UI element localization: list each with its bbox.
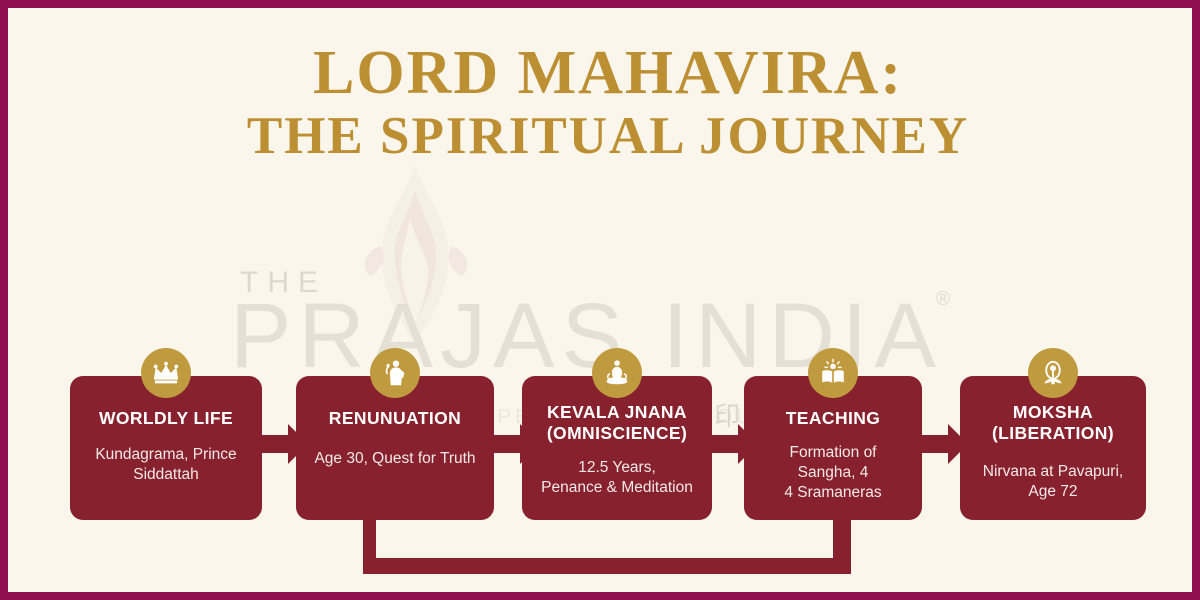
arrow-4-icon [922, 422, 968, 466]
step-title-1: WORLDLY LIFE [70, 408, 262, 429]
step-desc-4: Formation of Sangha, 4 4 Sramaneras [744, 443, 922, 502]
lotus-liberation-icon [1028, 348, 1078, 398]
renunciation-to-teaching-connector [363, 500, 863, 580]
meditating-figure-icon [592, 348, 642, 398]
step-title-3: KEVALA JNANA (OMNISCIENCE) [522, 402, 712, 444]
step-title-2: RENUNUATION [296, 408, 494, 429]
arrow-2-icon [494, 422, 540, 466]
infographic-canvas: THE PRAJAS INDIA ® EXPERIENCE THE JOURNE… [0, 0, 1200, 600]
step-desc-5: Nirvana at Pavapuri, Age 72 [960, 462, 1146, 502]
step-desc-3: 12.5 Years, Penance & Meditation [522, 458, 712, 498]
open-book-icon [808, 348, 858, 398]
step-desc-2: Age 30, Quest for Truth [296, 449, 494, 469]
step-title-4: TEACHING [744, 408, 922, 429]
arrow-1-icon [262, 422, 308, 466]
crown-icon [141, 348, 191, 398]
arrow-3-icon [712, 422, 758, 466]
standing-monk-icon [370, 348, 420, 398]
journey-flow: WORLDLY LIFE Kundagrama, Prince Siddatta… [8, 8, 1200, 600]
step-title-5: MOKSHA (LIBERATION) [960, 402, 1146, 444]
step-desc-1: Kundagrama, Prince Siddattah [70, 445, 262, 485]
